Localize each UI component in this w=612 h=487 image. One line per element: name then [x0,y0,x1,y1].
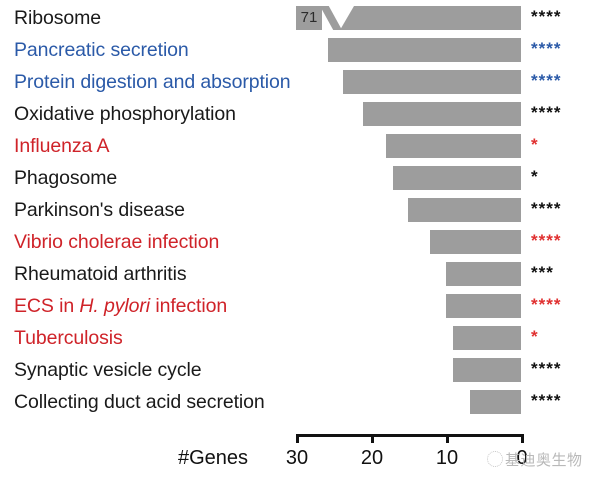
category-label: ECS in H. pylori infection [14,290,227,322]
chart-row: Influenza A* [0,130,612,162]
x-axis-line [296,434,522,437]
category-label: Rheumatoid arthritis [14,258,187,290]
axis-break-marker [320,6,342,30]
significance-stars: * [531,162,539,194]
x-axis-tick [371,434,374,443]
bar [446,294,521,318]
chart-row: Parkinson's disease**** [0,194,612,226]
category-label: Influenza A [14,130,109,162]
bar-value-badge: 71 [296,6,322,30]
significance-stars: *** [531,258,554,290]
chart-row: Pancreatic secretion**** [0,34,612,66]
significance-stars: **** [531,194,561,226]
significance-stars: **** [531,226,561,258]
bar [470,390,521,414]
species-name-italic: H. pylori [79,295,150,317]
significance-stars: **** [531,98,561,130]
chart-row: Ribosome71**** [0,2,612,34]
circle-dotted-logo-icon [487,451,503,467]
chart-row: Oxidative phosphorylation**** [0,98,612,130]
category-label: Collecting duct acid secretion [14,386,265,418]
category-label: Parkinson's disease [14,194,185,226]
kegg-pathway-bar-chart: Ribosome71****Pancreatic secretion****Pr… [0,0,612,487]
category-label: Ribosome [14,2,101,34]
significance-stars: * [531,322,539,354]
category-label: Phagosome [14,162,117,194]
bar [453,326,521,350]
x-axis-tick-label: 20 [342,447,402,470]
bar [340,6,521,30]
significance-stars: **** [531,34,561,66]
bar [430,230,521,254]
chart-row: Phagosome* [0,162,612,194]
watermark-text: 基迪奥生物 [505,452,583,469]
chart-row: Protein digestion and absorption**** [0,66,612,98]
category-label: Tuberculosis [14,322,123,354]
chart-row: ECS in H. pylori infection**** [0,290,612,322]
bar [446,262,521,286]
category-label: Synaptic vesicle cycle [14,354,201,386]
significance-stars: **** [531,290,561,322]
significance-stars: **** [531,354,561,386]
significance-stars: **** [531,386,561,418]
bar [408,198,521,222]
chart-row: Synaptic vesicle cycle**** [0,354,612,386]
bar [386,134,521,158]
category-label: Protein digestion and absorption [14,66,291,98]
significance-stars: **** [531,66,561,98]
chart-row: Collecting duct acid secretion**** [0,386,612,418]
chart-row: Vibrio cholerae infection**** [0,226,612,258]
significance-stars: **** [531,2,561,34]
x-axis-tick-label: 10 [417,447,477,470]
bar [363,102,521,126]
x-axis-tick-label: 30 [267,447,327,470]
bar [393,166,521,190]
chart-row: Rheumatoid arthritis*** [0,258,612,290]
category-label: Oxidative phosphorylation [14,98,236,130]
watermark: 基迪奥生物 [487,449,583,470]
x-axis-tick [296,434,299,443]
category-label: Pancreatic secretion [14,34,189,66]
bar [328,38,521,62]
x-axis-tick [521,434,524,443]
chart-row: Tuberculosis* [0,322,612,354]
category-label: Vibrio cholerae infection [14,226,219,258]
x-axis-tick [446,434,449,443]
bar [343,70,521,94]
x-axis-title: #Genes [178,447,248,470]
bar [453,358,521,382]
significance-stars: * [531,130,539,162]
